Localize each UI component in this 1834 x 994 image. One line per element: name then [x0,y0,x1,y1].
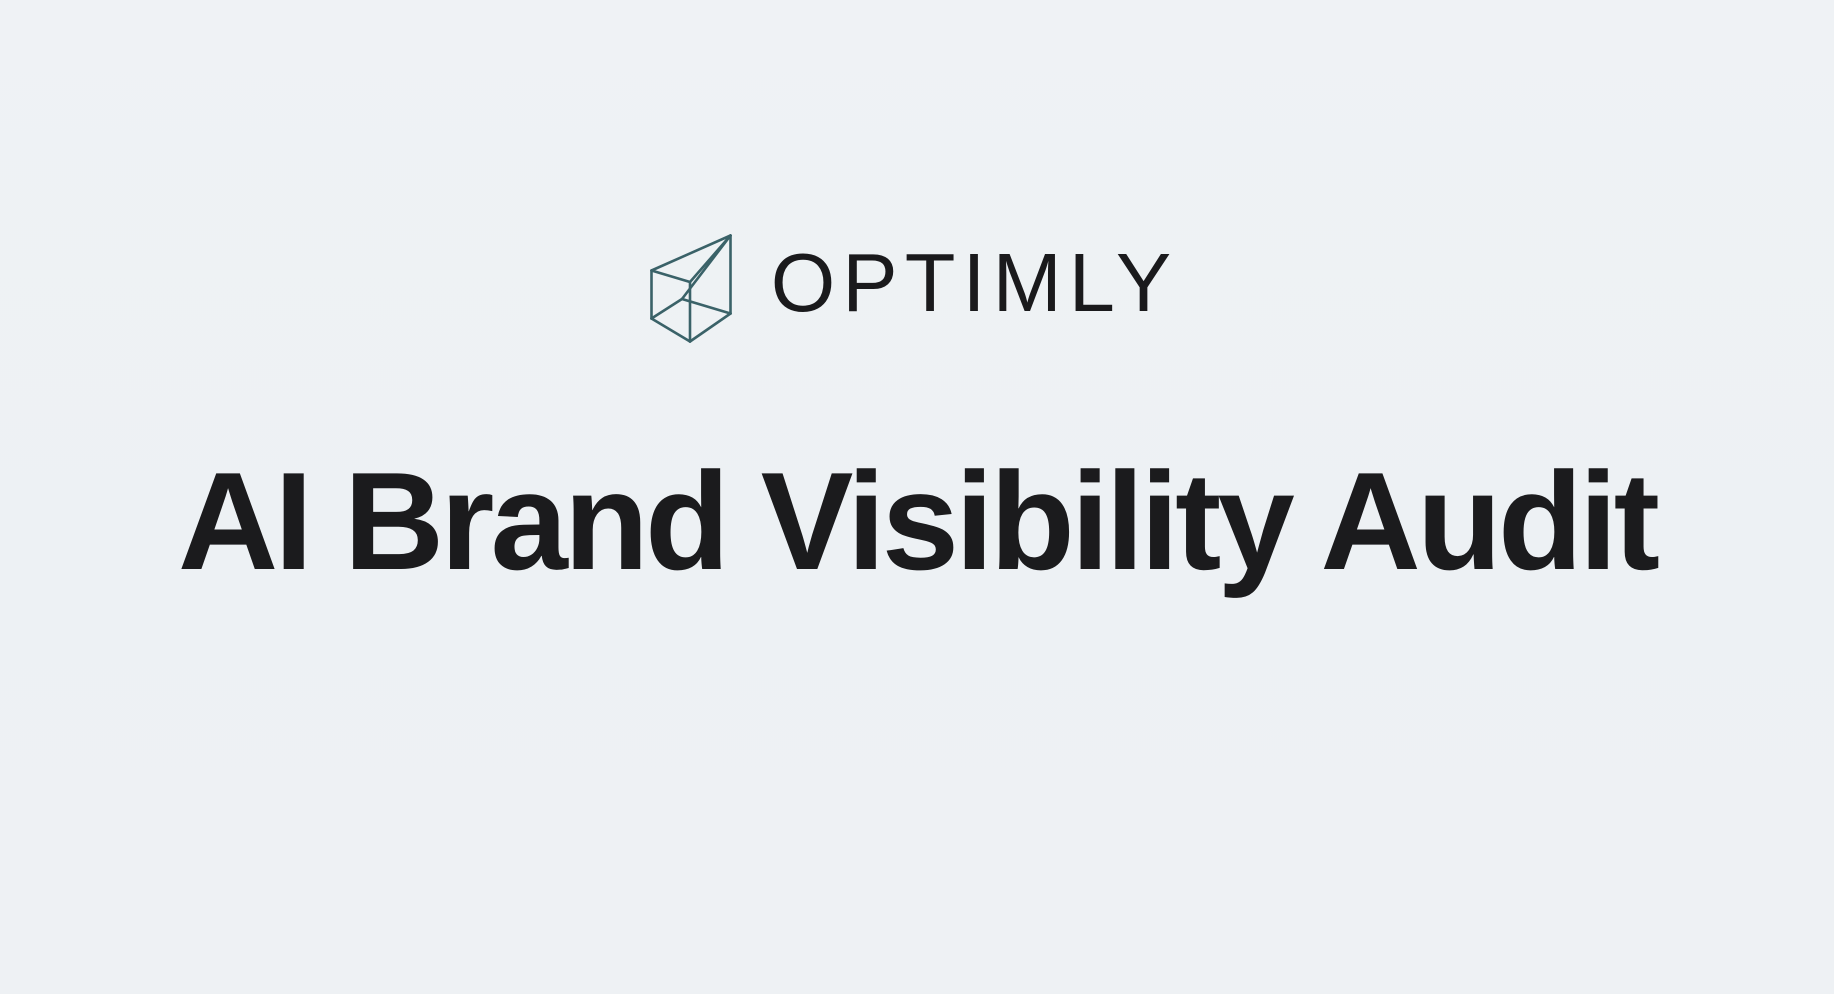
page-title: AI Brand Visibility Audit [178,452,1656,591]
optimly-prism-logo-icon [649,226,733,344]
headline-container: AI Brand Visibility Audit [0,452,1834,591]
title-slide: OPTIMLY AI Brand Visibility Audit [0,0,1834,994]
brand-lockup: OPTIMLY [0,206,1834,364]
brand-wordmark: OPTIMLY [771,241,1186,330]
